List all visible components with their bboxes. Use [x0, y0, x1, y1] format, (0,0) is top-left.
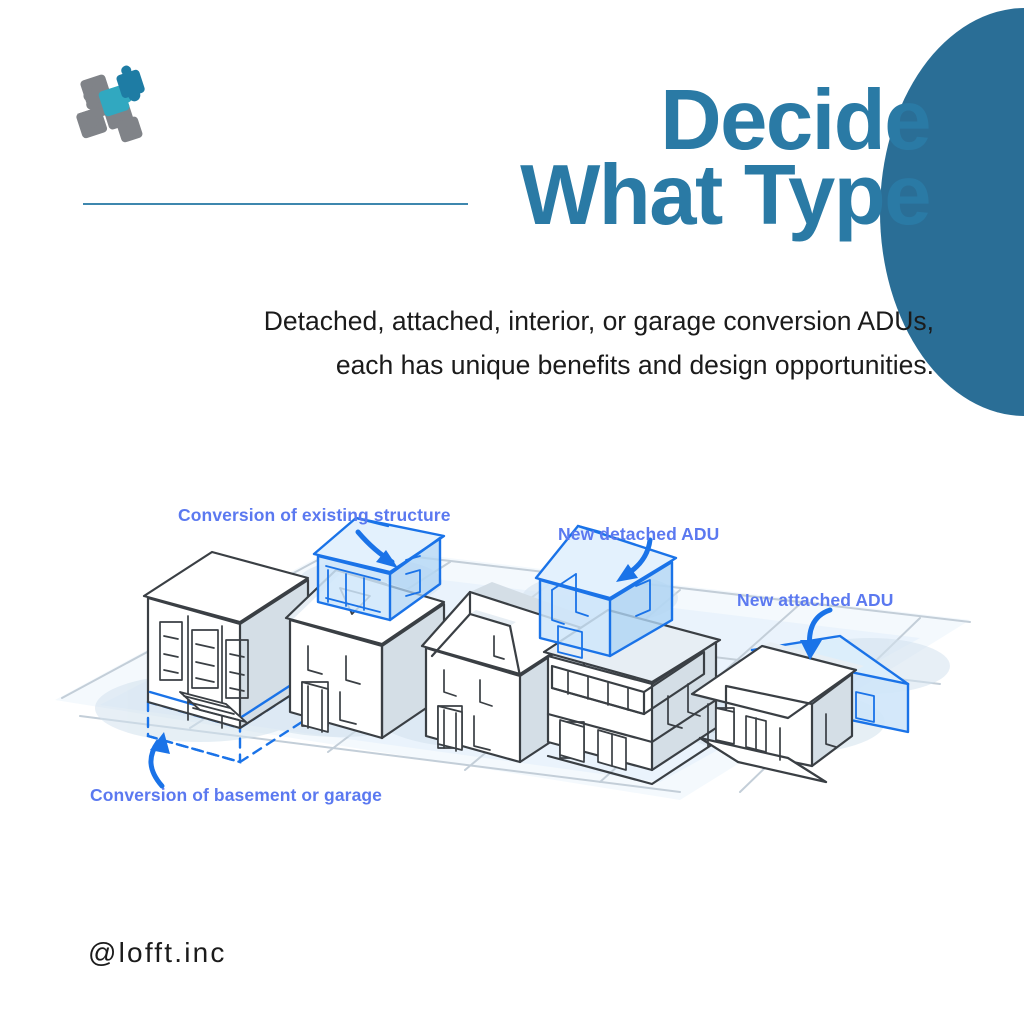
- poster-canvas: Decide What Type Detached, attached, int…: [0, 0, 1024, 1024]
- body-paragraph: Detached, attached, interior, or garage …: [229, 300, 934, 388]
- page-title: Decide What Type: [230, 84, 930, 234]
- social-handle: @lofft.inc: [88, 937, 227, 969]
- label-conversion-basement-garage: Conversion of basement or garage: [90, 785, 382, 806]
- label-new-attached-adu: New attached ADU: [737, 590, 894, 611]
- title-line-2: What Type: [230, 159, 930, 234]
- lofft-puzzle-logo: [66, 56, 162, 152]
- label-new-detached-adu: New detached ADU: [558, 524, 719, 545]
- label-conversion-existing-structure: Conversion of existing structure: [178, 505, 451, 526]
- header-divider-rule: [83, 203, 468, 205]
